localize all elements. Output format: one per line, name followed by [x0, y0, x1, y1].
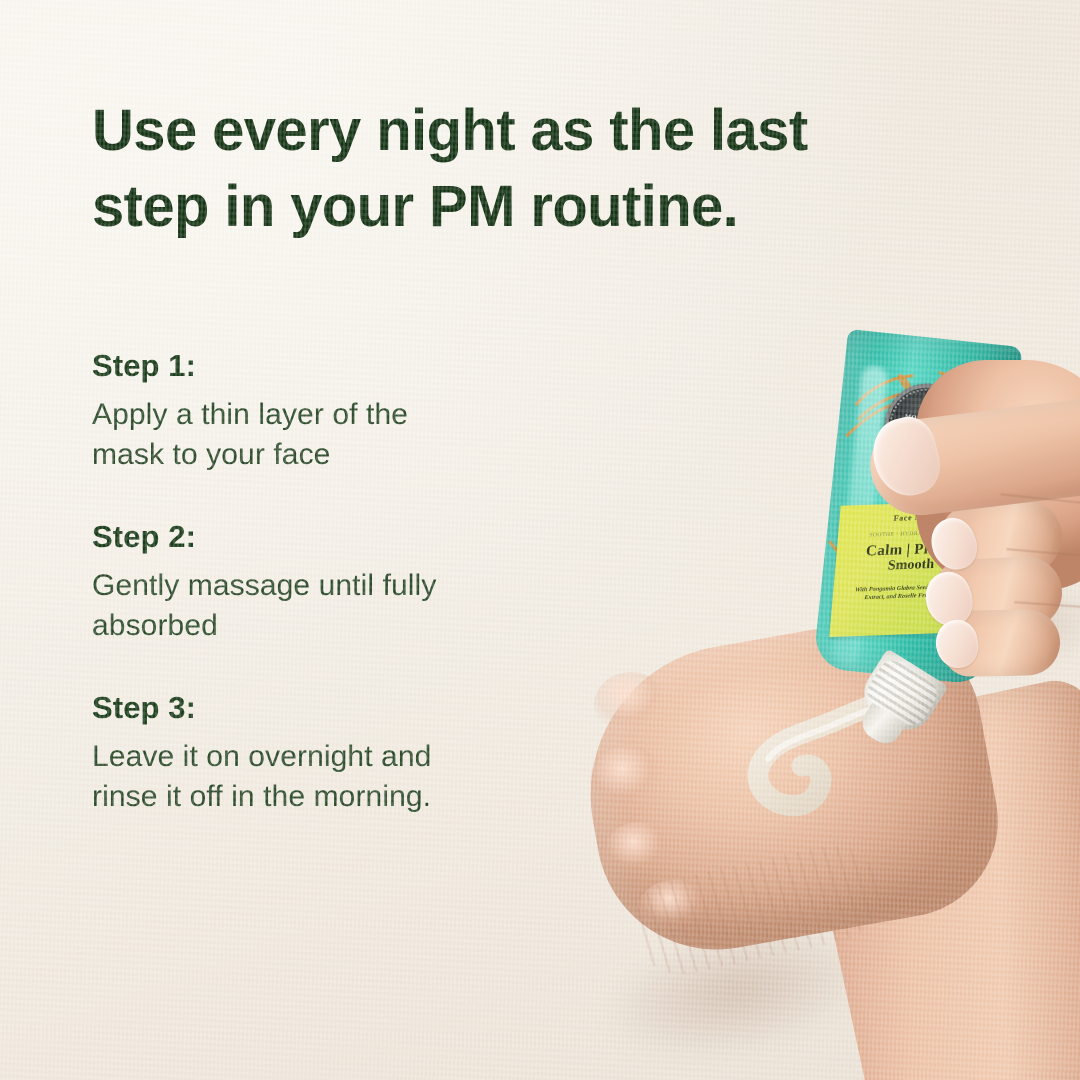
step-1-body-line-1: Apply a thin layer of the: [92, 395, 652, 435]
step-1-body-line-2: mask to your face: [92, 435, 652, 475]
page-title: Use every night as the last step in your…: [92, 93, 932, 245]
step-3-title: Step 3:: [92, 690, 652, 726]
steps-list: Step 1: Apply a thin layer of the mask t…: [92, 348, 652, 817]
step-2-body-line-1: Gently massage until fully: [92, 566, 652, 606]
step-3-body-line-2: rinse it off in the morning.: [92, 777, 652, 817]
step-2-body: Gently massage until fully absorbed: [92, 566, 652, 646]
step-1-body: Apply a thin layer of the mask to your f…: [92, 395, 652, 475]
step-2-body-line-2: absorbed: [92, 606, 652, 646]
list-item: Step 2: Gently massage until fully absor…: [92, 519, 652, 646]
list-item: Step 3: Leave it on overnight and rinse …: [92, 690, 652, 817]
step-3-body: Leave it on overnight and rinse it off i…: [92, 737, 652, 817]
step-3-body-line-1: Leave it on overnight and: [92, 737, 652, 777]
step-2-title: Step 2:: [92, 519, 652, 555]
list-item: Step 1: Apply a thin layer of the mask t…: [92, 348, 652, 475]
instruction-card: MODERNICA NATURALIS Face Mask SOOTHE · H…: [0, 0, 1080, 1080]
hand-holding-tube: [880, 352, 1080, 712]
step-1-title: Step 1:: [92, 348, 652, 384]
headline-line-2: step in your PM routine.: [92, 169, 932, 245]
headline-line-1: Use every night as the last: [92, 93, 932, 169]
knuckle: [604, 822, 674, 884]
